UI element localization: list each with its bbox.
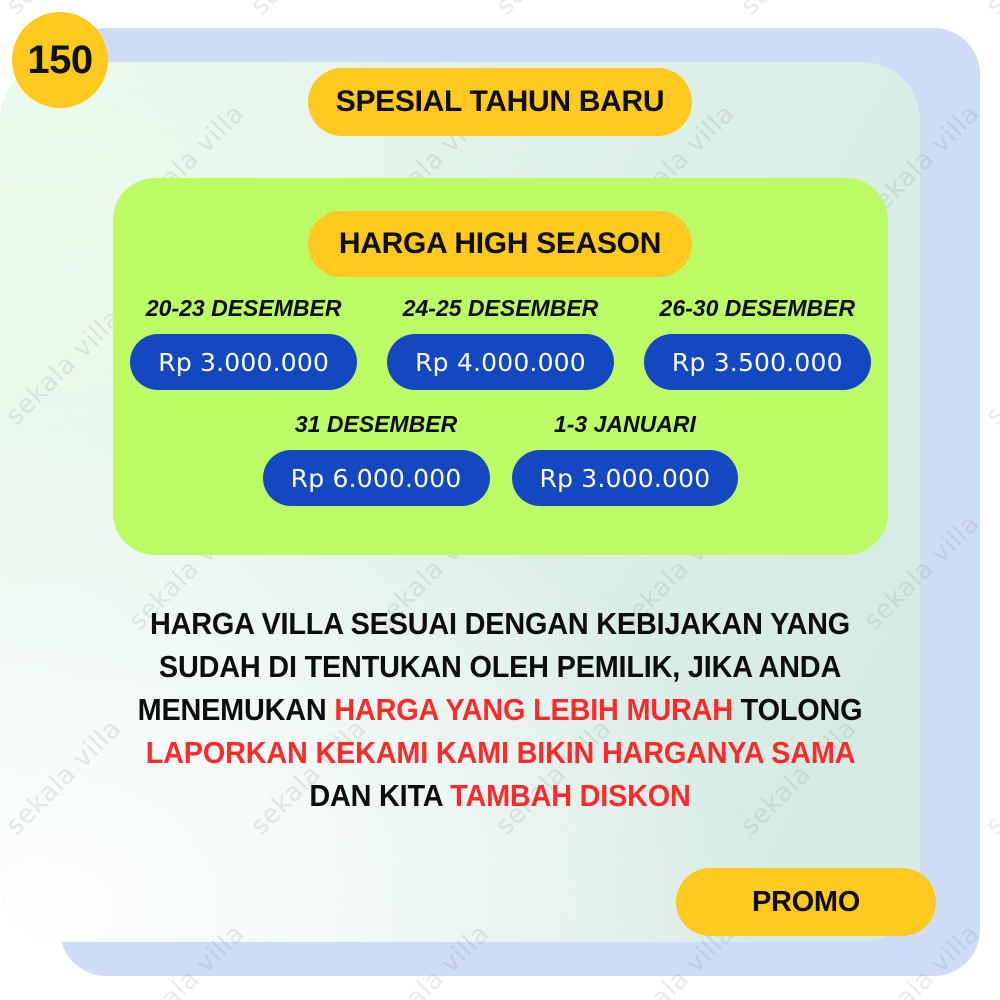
price-item: 31 DESEMBER Rp 6.000.000	[263, 411, 490, 506]
price-item: 20-23 DESEMBER Rp 3.000.000	[130, 295, 357, 390]
price-pill-label: Rp 4.000.000	[415, 348, 586, 377]
price-pill-label: Rp 3.500.000	[672, 348, 843, 377]
disclaimer-segment-3: DAN KITA	[309, 778, 450, 813]
title-banner-label: SPESIAL TAHUN BARU	[336, 85, 665, 119]
price-pill-label: Rp 3.000.000	[158, 348, 329, 377]
disclaimer-highlight-2: LAPORKAN KEKAMI KAMI BIKIN HARGANYA SAMA	[146, 735, 855, 770]
promo-poster: sekala villasekala villasekala villaseka…	[0, 0, 1000, 1000]
watermark-text: sekala villa	[980, 304, 1000, 432]
price-item: 1-3 JANUARI Rp 3.000.000	[512, 411, 739, 506]
price-pill: Rp 6.000.000	[263, 450, 490, 506]
watermark-text: sekala villa	[735, 0, 863, 21]
promo-button-label: PROMO	[752, 886, 860, 919]
price-pill: Rp 4.000.000	[387, 334, 614, 390]
watermark-text: sekala villa	[980, 0, 1000, 21]
subtitle-banner: HARGA HIGH SEASON	[308, 211, 692, 277]
disclaimer-highlight-1: HARGA YANG LEBIH MURAH	[334, 692, 732, 727]
price-pill-label: Rp 3.000.000	[540, 464, 711, 493]
price-date-label: 26-30 DESEMBER	[660, 295, 856, 322]
price-date-label: 20-23 DESEMBER	[146, 295, 342, 322]
badge-150-label: 150	[27, 38, 92, 83]
price-item: 24-25 DESEMBER Rp 4.000.000	[387, 295, 614, 390]
price-row-2: 31 DESEMBER Rp 6.000.000 1-3 JANUARI Rp …	[113, 411, 888, 506]
watermark-text: sekala villa	[980, 714, 1000, 842]
watermark-text: sekala villa	[0, 919, 5, 1000]
price-row-1: 20-23 DESEMBER Rp 3.000.000 24-25 DESEMB…	[113, 295, 888, 390]
watermark-text: sekala villa	[490, 0, 618, 21]
badge-150: 150	[12, 12, 108, 108]
title-banner: SPESIAL TAHUN BARU	[308, 68, 692, 136]
price-pill: Rp 3.000.000	[512, 450, 739, 506]
promo-button[interactable]: PROMO	[676, 868, 936, 936]
price-date-label: 24-25 DESEMBER	[403, 295, 599, 322]
disclaimer-segment-2: TOLONG	[733, 692, 863, 727]
price-pill-label: Rp 6.000.000	[291, 464, 462, 493]
subtitle-banner-label: HARGA HIGH SEASON	[339, 227, 661, 261]
disclaimer-highlight-3: TAMBAH DISKON	[450, 778, 690, 813]
disclaimer-text: HARGA VILLA SESUAI DENGAN KEBIJAKAN YANG…	[128, 602, 872, 817]
price-pill: Rp 3.500.000	[644, 334, 871, 390]
price-pill: Rp 3.000.000	[130, 334, 357, 390]
price-item: 26-30 DESEMBER Rp 3.500.000	[644, 295, 871, 390]
price-date-label: 1-3 JANUARI	[554, 411, 696, 438]
watermark-text: sekala villa	[245, 0, 373, 21]
price-date-label: 31 DESEMBER	[295, 411, 457, 438]
price-grid: 20-23 DESEMBER Rp 3.000.000 24-25 DESEMB…	[113, 295, 888, 506]
